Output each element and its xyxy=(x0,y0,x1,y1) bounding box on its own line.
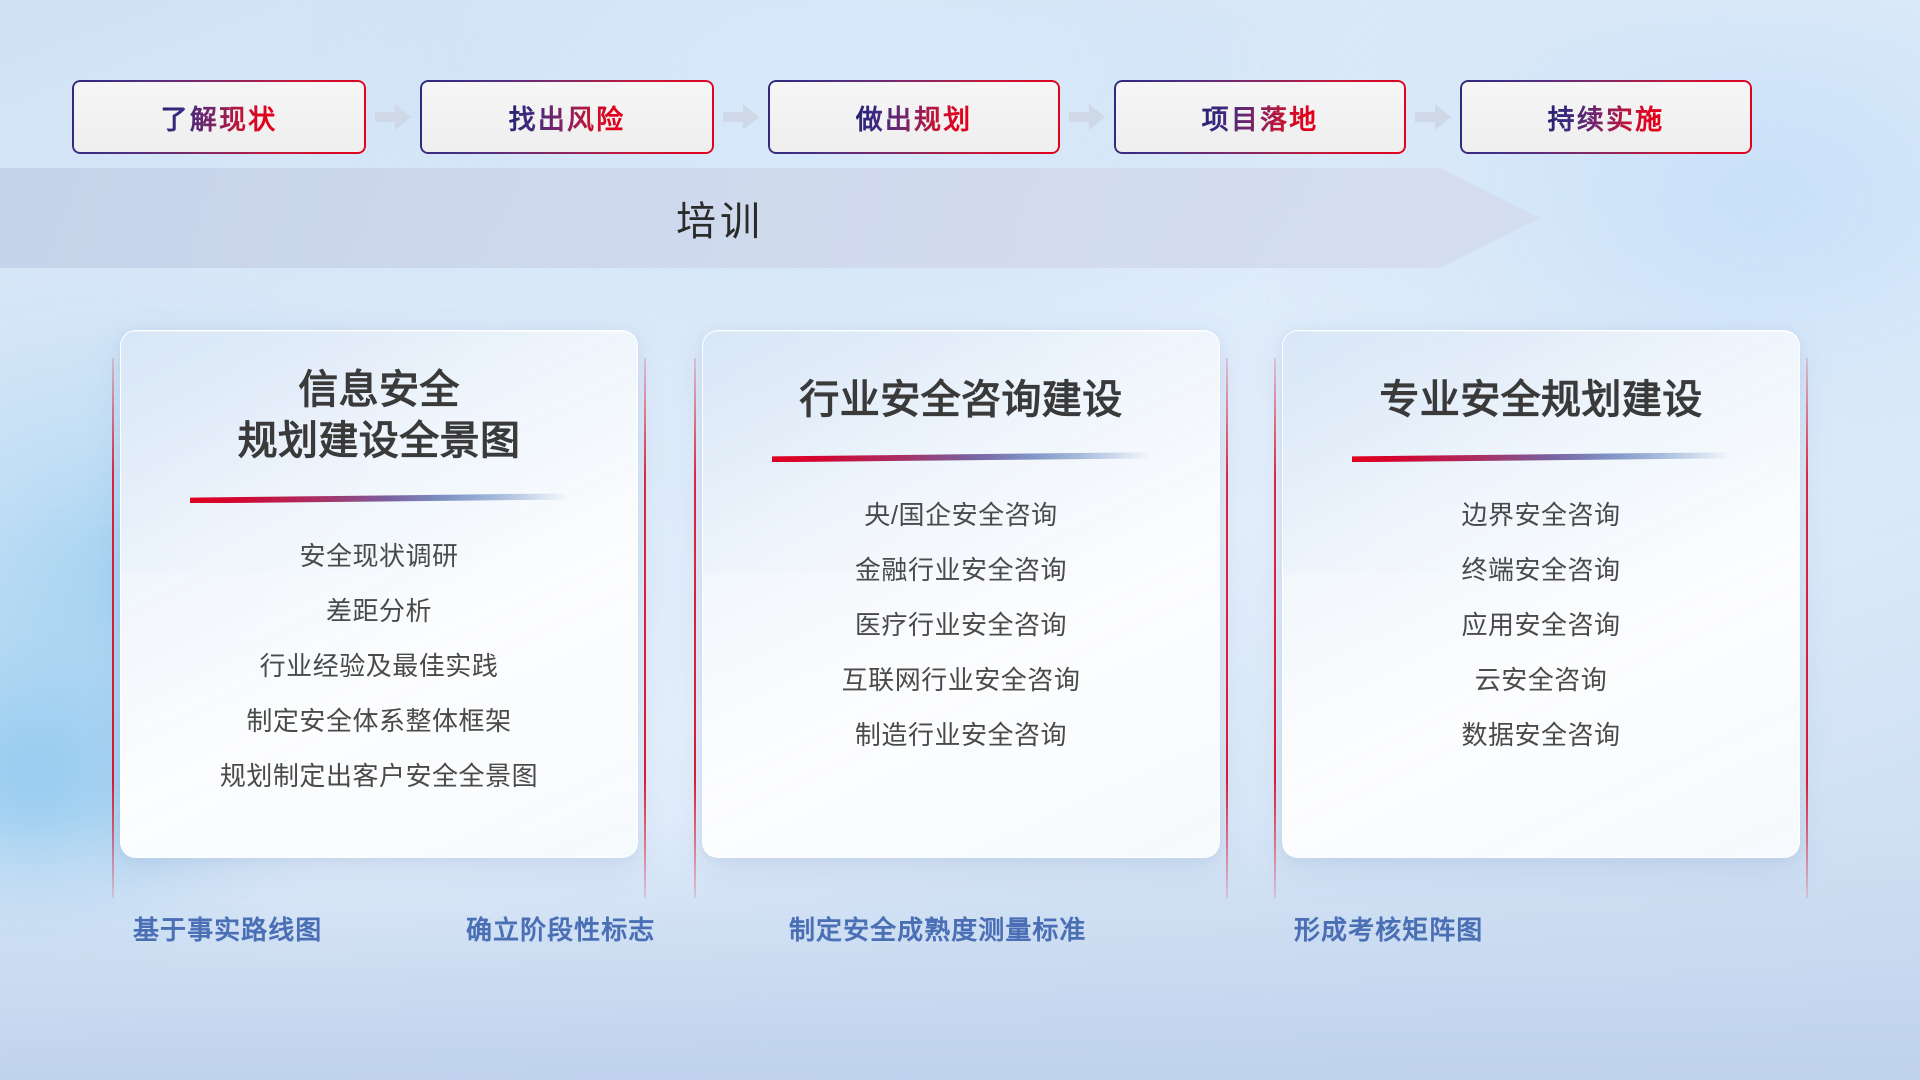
step-chip-4[interactable]: 项目落地 xyxy=(1114,80,1406,154)
training-arrow-band: 培训 xyxy=(0,168,1540,268)
card-3-accent-right xyxy=(1806,358,1808,898)
step-chip-1-label: 了解现状 xyxy=(161,98,278,137)
card-1-accent-left xyxy=(112,358,114,898)
card-2-divider xyxy=(772,452,1150,462)
caption-1: 基于事实路线图 xyxy=(133,910,322,947)
list-item: 数据安全咨询 xyxy=(1461,716,1620,754)
card-2[interactable]: 行业安全咨询建设 央/国企安全咨询 金融行业安全咨询 医疗行业安全咨询 互联网行… xyxy=(694,330,1228,870)
step-chip-4-label: 项目落地 xyxy=(1202,98,1319,137)
card-2-list: 央/国企安全咨询 金融行业安全咨询 医疗行业安全咨询 互联网行业安全咨询 制造行… xyxy=(703,496,1219,754)
list-item: 医疗行业安全咨询 xyxy=(855,606,1067,644)
card-2-accent-left xyxy=(694,358,696,898)
card-3-list: 边界安全咨询 终端安全咨询 应用安全咨询 云安全咨询 数据安全咨询 xyxy=(1283,496,1799,754)
card-3-title: 专业安全规划建设 xyxy=(1379,375,1702,426)
list-item: 制造行业安全咨询 xyxy=(855,716,1067,754)
card-2-panel[interactable]: 行业安全咨询建设 央/国企安全咨询 金融行业安全咨询 医疗行业安全咨询 互联网行… xyxy=(702,330,1220,858)
process-steps-row: 了解现状 找出风险 做出规划 项目落地 xyxy=(72,80,1848,154)
step-chip-2-label: 找出风险 xyxy=(509,98,626,137)
caption-3: 制定安全成熟度测量标准 xyxy=(789,910,1086,947)
chevron-right-arrow-icon-3 xyxy=(1060,80,1114,154)
card-2-title: 行业安全咨询建设 xyxy=(799,375,1122,426)
training-band-label: 培训 xyxy=(0,168,1440,268)
list-item: 金融行业安全咨询 xyxy=(855,551,1067,589)
list-item: 应用安全咨询 xyxy=(1461,606,1620,644)
chevron-right-arrow-icon-1 xyxy=(366,80,420,154)
card-2-accent-right xyxy=(1226,358,1228,898)
list-item: 规划制定出客户安全全景图 xyxy=(220,757,538,795)
caption-2: 确立阶段性标志 xyxy=(466,910,655,947)
list-item: 差距分析 xyxy=(326,592,432,630)
card-3[interactable]: 专业安全规划建设 边界安全咨询 终端安全咨询 应用安全咨询 云安全咨询 数据安全… xyxy=(1274,330,1808,870)
step-chip-3[interactable]: 做出规划 xyxy=(768,80,1060,154)
list-item: 互联网行业安全咨询 xyxy=(842,661,1081,699)
chevron-right-arrow-icon-2 xyxy=(714,80,768,154)
card-1-panel[interactable]: 信息安全 规划建设全景图 安全现状调研 差距分析 行业经验及最佳实践 制定安全体… xyxy=(120,330,638,858)
list-item: 边界安全咨询 xyxy=(1461,496,1620,534)
card-1-divider xyxy=(190,493,568,503)
list-item: 终端安全咨询 xyxy=(1461,551,1620,589)
caption-4: 形成考核矩阵图 xyxy=(1294,910,1483,947)
card-1[interactable]: 信息安全 规划建设全景图 安全现状调研 差距分析 行业经验及最佳实践 制定安全体… xyxy=(112,330,646,870)
card-1-accent-right xyxy=(644,358,646,898)
list-item: 行业经验及最佳实践 xyxy=(260,647,499,685)
card-3-accent-left xyxy=(1274,358,1276,898)
card-1-list: 安全现状调研 差距分析 行业经验及最佳实践 制定安全体系整体框架 规划制定出客户… xyxy=(121,537,637,795)
list-item: 安全现状调研 xyxy=(299,537,458,575)
step-chip-1[interactable]: 了解现状 xyxy=(72,80,366,154)
card-3-panel[interactable]: 专业安全规划建设 边界安全咨询 终端安全咨询 应用安全咨询 云安全咨询 数据安全… xyxy=(1282,330,1800,858)
card-1-title: 信息安全 规划建设全景图 xyxy=(238,365,521,467)
bottom-captions-row: 基于事实路线图 确立阶段性标志 制定安全成熟度测量标准 形成考核矩阵图 xyxy=(0,910,1920,962)
step-chip-2[interactable]: 找出风险 xyxy=(420,80,714,154)
list-item: 制定安全体系整体框架 xyxy=(246,702,511,740)
step-chip-3-label: 做出规划 xyxy=(856,98,973,137)
list-item: 云安全咨询 xyxy=(1475,661,1608,699)
cards-row: 信息安全 规划建设全景图 安全现状调研 差距分析 行业经验及最佳实践 制定安全体… xyxy=(0,330,1920,900)
step-chip-5[interactable]: 持续实施 xyxy=(1460,80,1752,154)
card-3-divider xyxy=(1352,452,1730,462)
list-item: 央/国企安全咨询 xyxy=(864,496,1057,534)
chevron-right-arrow-icon-4 xyxy=(1406,80,1460,154)
slide-stage: 了解现状 找出风险 做出规划 项目落地 xyxy=(0,0,1920,1080)
step-chip-5-label: 持续实施 xyxy=(1548,98,1665,137)
